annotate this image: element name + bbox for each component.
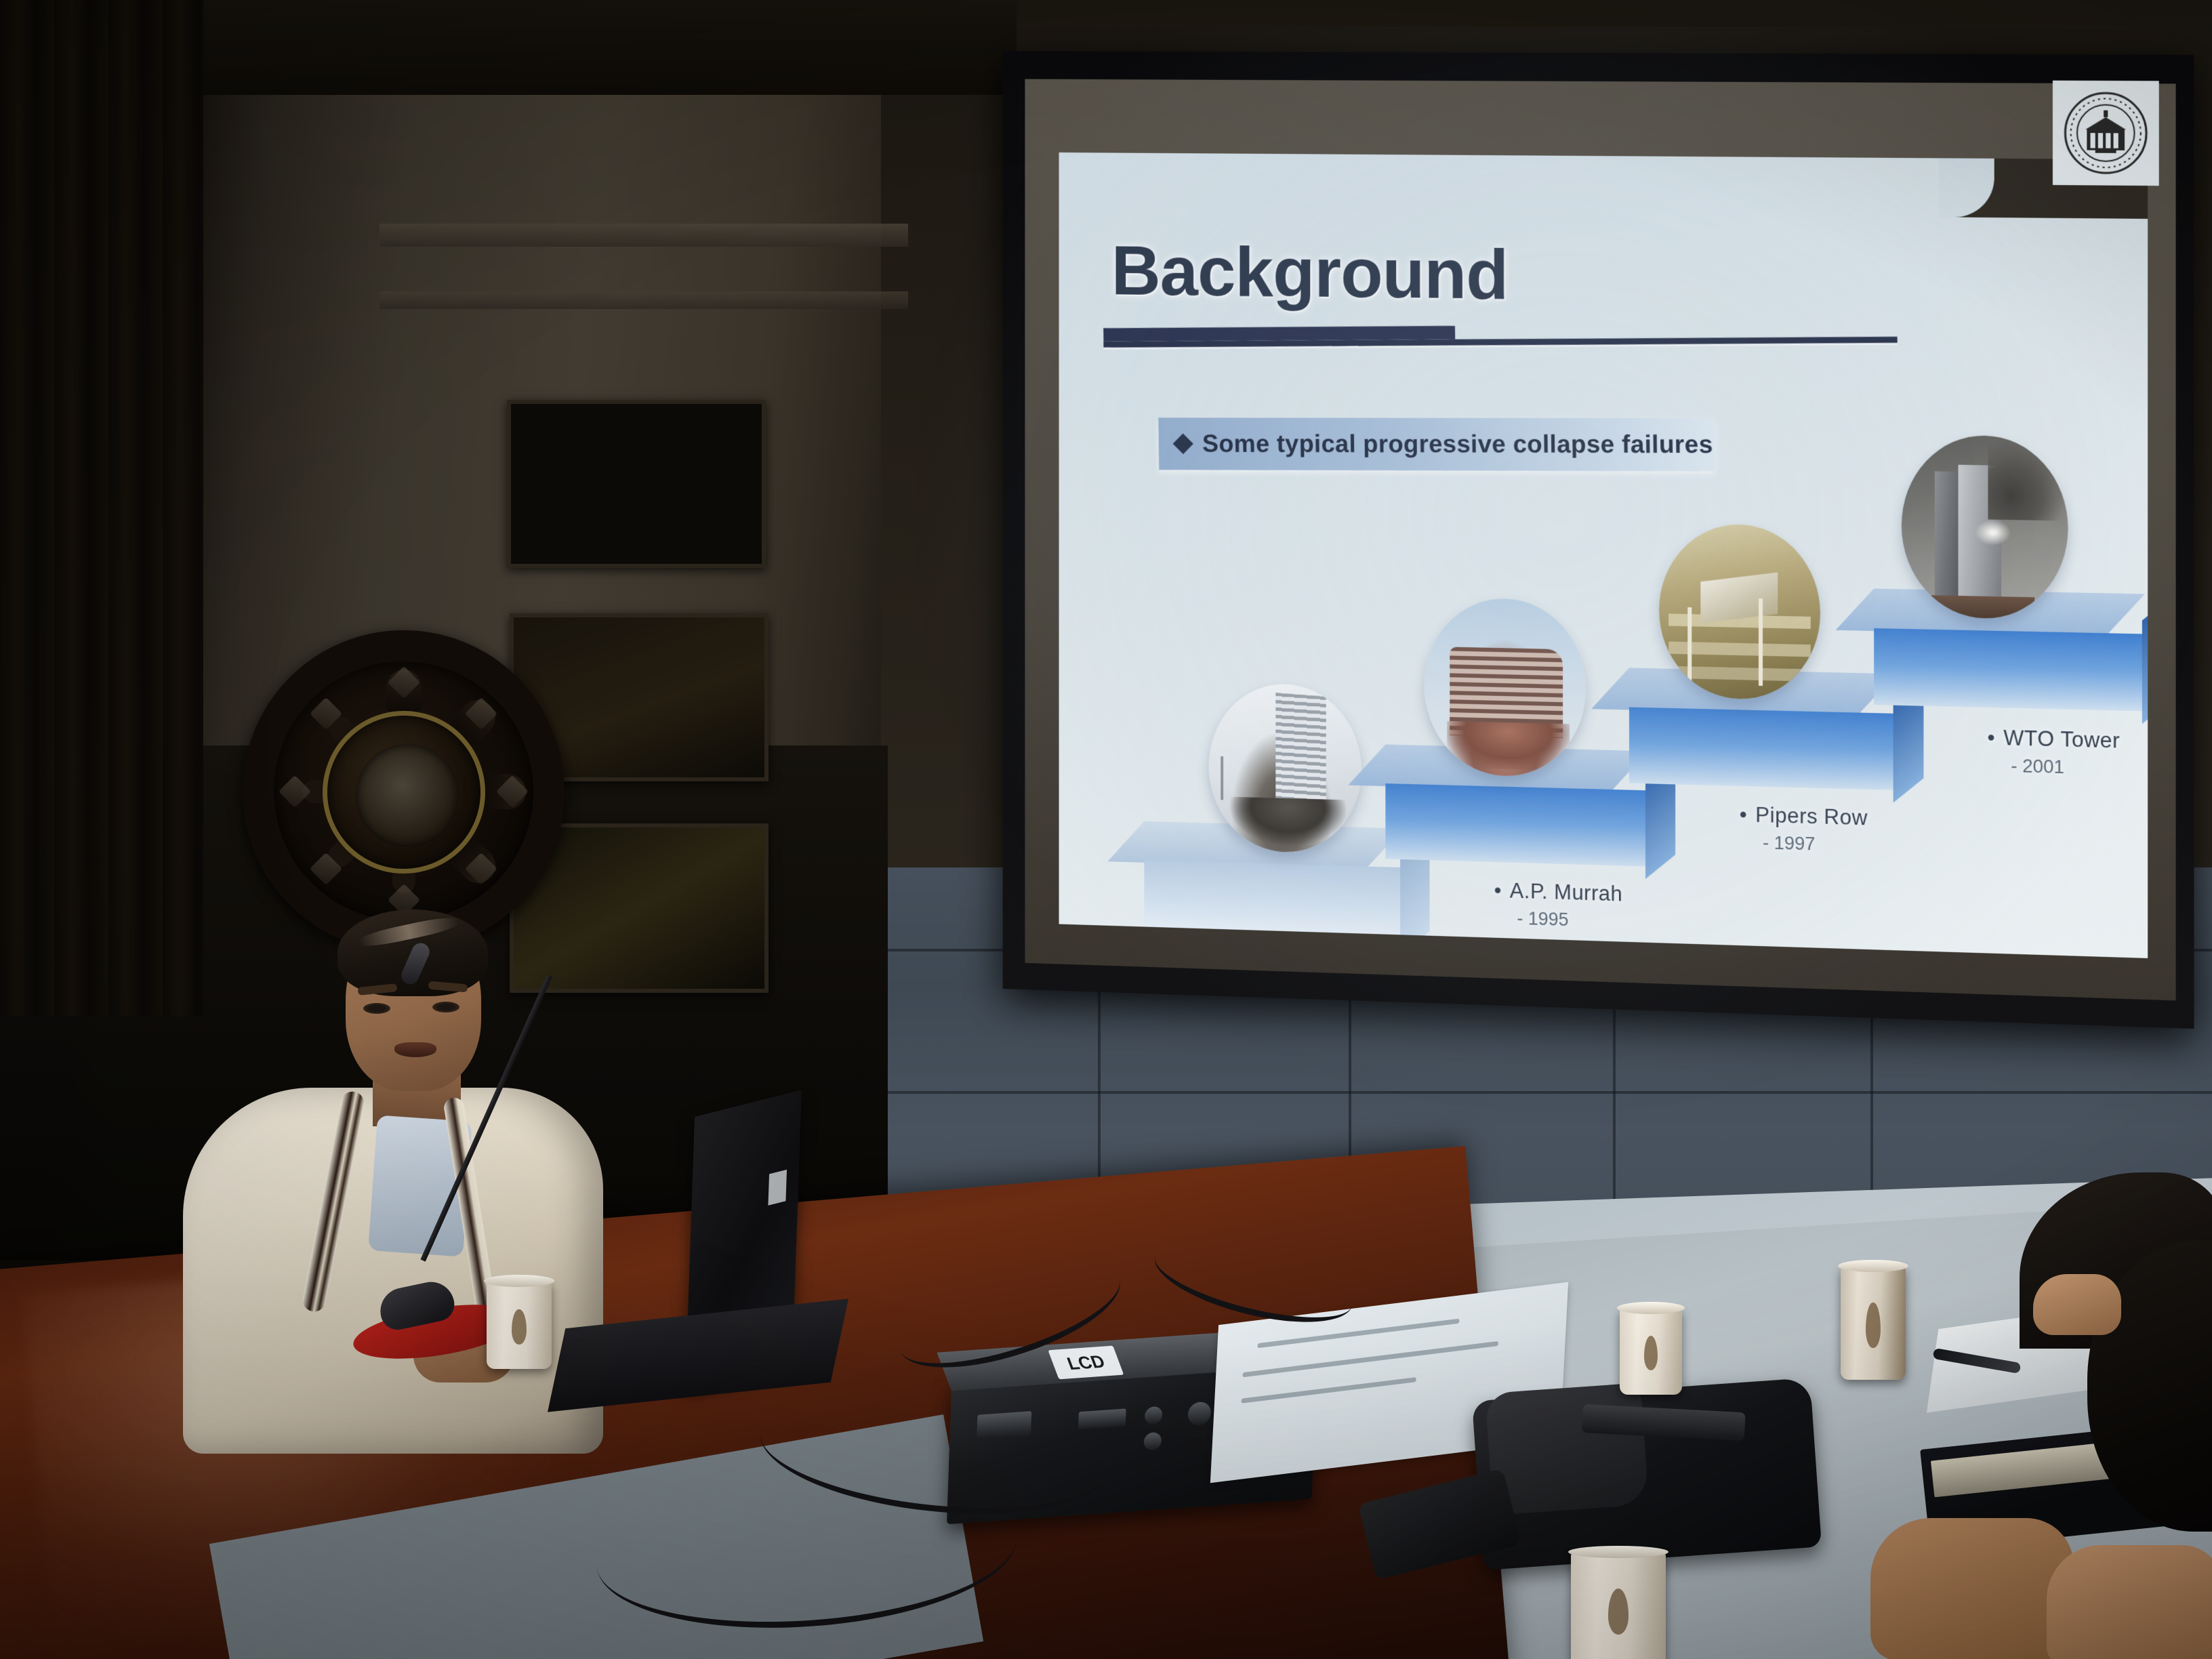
projector-badge: LCD (1048, 1346, 1124, 1380)
cup-logo-icon (512, 1309, 526, 1345)
foreground-attendee-hand-upper (2033, 1274, 2121, 1335)
label-step-3: •Pipers Row - 1997 (1740, 802, 1868, 857)
photo-ap-murrah (1425, 597, 1586, 778)
label-step-4: •WTO Tower - 2001 (1987, 725, 2120, 779)
label-step-2: •A.P. Murrah - 1995 (1494, 878, 1623, 933)
photo-ronan-point (1209, 682, 1361, 854)
cup-logo-icon (1866, 1303, 1880, 1348)
collapse-failures-staircase: •Ronan Point - 1968 •A.P. Murrah (1059, 152, 2148, 958)
wall-trim-lower (380, 291, 908, 309)
foreground-attendee-hand-left (1870, 1518, 2074, 1659)
coffee-cup-right-tall[interactable] (1841, 1266, 1906, 1380)
cup-logo-icon (1608, 1589, 1629, 1635)
coffee-cup-presenter[interactable] (487, 1281, 552, 1369)
coffee-cup-center[interactable] (1620, 1308, 1682, 1395)
ship-wheel-medallion (356, 744, 459, 847)
shoulder-bag[interactable] (1472, 1378, 1822, 1570)
conference-room-photo: Background Some typical progressive coll… (0, 0, 2212, 1659)
curtain (0, 0, 203, 1017)
ship-wheel-hub (323, 711, 485, 874)
screen-mat: Background Some typical progressive coll… (1025, 79, 2175, 1001)
projection-screen: Background Some typical progressive coll… (1003, 51, 2194, 1029)
wall-trim-upper (380, 224, 908, 247)
cup-logo-icon (1644, 1336, 1658, 1370)
photo-pipers-row (1659, 523, 1820, 701)
foreground-attendee-hand-right (2047, 1545, 2212, 1659)
ceiling-beam (169, 0, 1017, 95)
wall-frame-1 (507, 400, 766, 568)
presentation-slide: Background Some typical progressive coll… (1059, 152, 2148, 958)
label-step-1: •Ronan Point - 1968 (1256, 956, 1389, 958)
university-seal-logo (2053, 81, 2159, 186)
presenter-mouth (394, 1042, 436, 1057)
coffee-cup-front[interactable] (1571, 1552, 1666, 1659)
laptop-sticker (768, 1170, 787, 1206)
